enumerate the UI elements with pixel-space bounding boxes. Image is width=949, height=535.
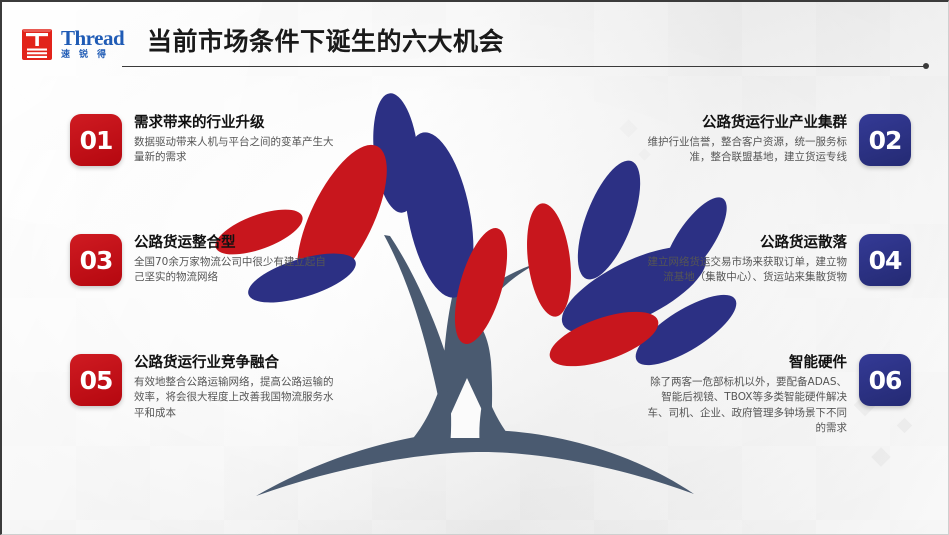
item-description: 数据驱动带来人机与平台之间的变革产生大量新的需求 (134, 135, 334, 165)
item-description: 有效地整合公路运输网络，提高公路运输的效率，将会很大程度上改善我国物流服务水平和… (134, 375, 334, 421)
logo-text-block: Thread 速 锐 得 (61, 28, 124, 61)
item-number-badge: 01 (70, 114, 122, 166)
item-title: 公路货运整合型 (134, 234, 334, 252)
item-text-block: 公路货运散落 建立网络货运交易市场来获取订单，建立物流基地（集散中心）、货运站来… (647, 234, 847, 286)
item-text-block: 需求带来的行业升级 数据驱动带来人机与平台之间的变革产生大量新的需求 (134, 114, 334, 166)
brand-logo: Thread 速 锐 得 (20, 26, 124, 62)
item-description: 建立网络货运交易市场来获取订单，建立物流基地（集散中心）、货运站来集散货物 (647, 255, 847, 285)
item-text-block: 公路货运整合型 全国70余万家物流公司中很少有建立起自己坚实的物流网络 (134, 234, 334, 286)
item-description: 全国70余万家物流公司中很少有建立起自己坚实的物流网络 (134, 255, 334, 285)
opportunity-item-02[interactable]: 02 公路货运行业产业集群 维护行业信誉，整合客户资源，统一服务标准，整合联盟基… (647, 114, 911, 166)
logo-char-2: 锐 (79, 50, 89, 59)
opportunity-item-04[interactable]: 04 公路货运散落 建立网络货运交易市场来获取订单，建立物流基地（集散中心）、货… (647, 234, 911, 286)
item-number-badge: 02 (859, 114, 911, 166)
logo-char-3: 得 (97, 50, 107, 59)
logo-char-1: 速 (61, 50, 71, 59)
item-number-badge: 03 (70, 234, 122, 286)
item-title: 公路货运散落 (647, 234, 847, 252)
item-description: 除了两客一危部标机以外，要配备ADAS、智能后视镜、TBOX等多类智能硬件解决车… (647, 375, 847, 436)
item-title: 智能硬件 (647, 354, 847, 372)
item-text-block: 公路货运行业竞争融合 有效地整合公路运输网络，提高公路运输的效率，将会很大程度上… (134, 354, 334, 421)
logo-chinese-chars: 速 锐 得 (61, 50, 124, 59)
opportunity-item-03[interactable]: 03 公路货运整合型 全国70余万家物流公司中很少有建立起自己坚实的物流网络 (70, 234, 334, 286)
item-number-badge: 06 (859, 354, 911, 406)
item-title: 公路货运行业竞争融合 (134, 354, 334, 372)
opportunity-item-01[interactable]: 01 需求带来的行业升级 数据驱动带来人机与平台之间的变革产生大量新的需求 (70, 114, 334, 166)
item-title: 需求带来的行业升级 (134, 114, 334, 132)
item-description: 维护行业信誉，整合客户资源，统一服务标准，整合联盟基地，建立货运专线 (647, 135, 847, 165)
presentation-slide: Thread 速 锐 得 当前市场条件下诞生的六大机会 (0, 0, 949, 535)
logo-wordmark: Thread (61, 28, 124, 49)
leaf-red-center-right (521, 201, 577, 319)
header-divider-end-dot (923, 63, 929, 69)
header-divider-line (122, 66, 925, 67)
item-number-badge: 04 (859, 234, 911, 286)
opportunity-item-06[interactable]: 06 智能硬件 除了两客一危部标机以外，要配备ADAS、智能后视镜、TBOX等多… (647, 354, 911, 436)
slide-header: Thread 速 锐 得 当前市场条件下诞生的六大机会 (2, 22, 948, 78)
logo-mark-icon (20, 26, 54, 62)
item-text-block: 智能硬件 除了两客一危部标机以外，要配备ADAS、智能后视镜、TBOX等多类智能… (647, 354, 847, 436)
page-title: 当前市场条件下诞生的六大机会 (147, 22, 504, 58)
opportunity-item-05[interactable]: 05 公路货运行业竞争融合 有效地整合公路运输网络，提高公路运输的效率，将会很大… (70, 354, 334, 421)
item-text-block: 公路货运行业产业集群 维护行业信誉，整合客户资源，统一服务标准，整合联盟基地，建… (647, 114, 847, 166)
item-title: 公路货运行业产业集群 (647, 114, 847, 132)
item-number-badge: 05 (70, 354, 122, 406)
